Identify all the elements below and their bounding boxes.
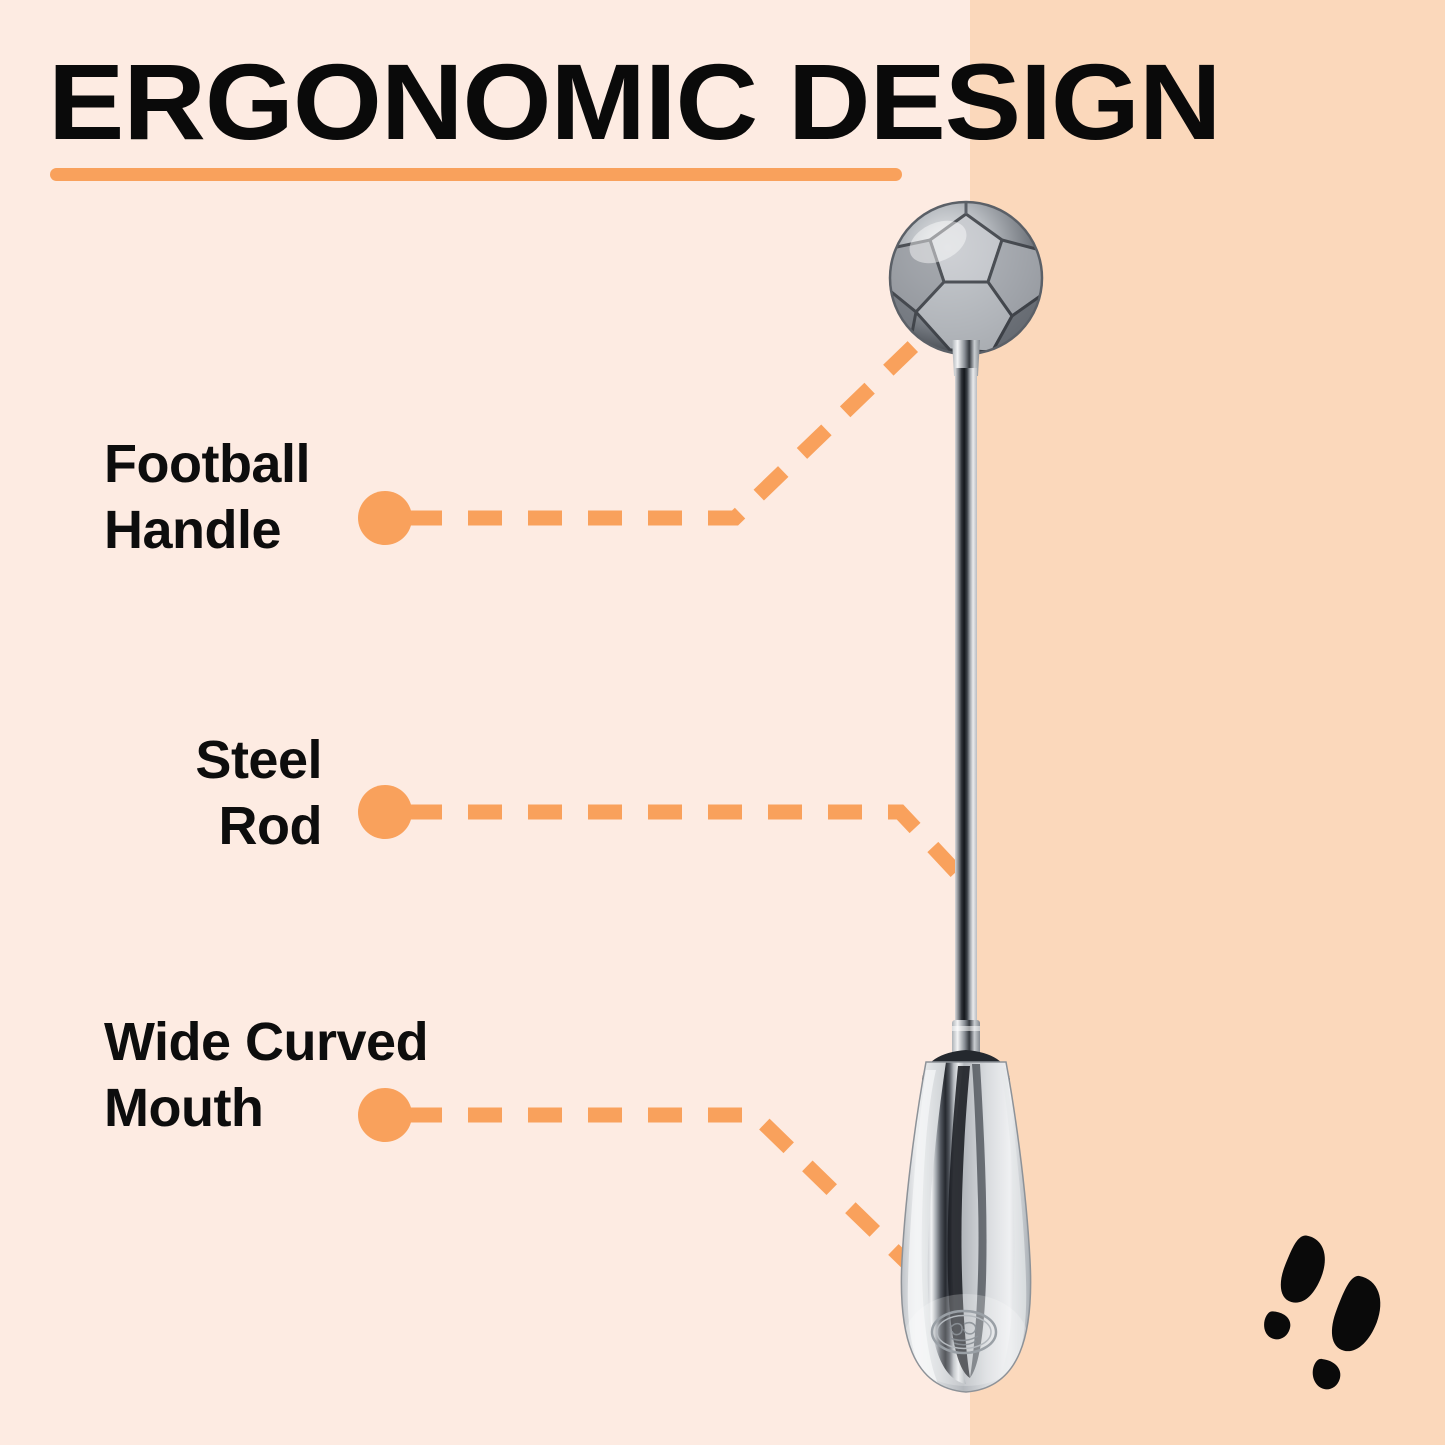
page-title: ERGONOMIC DESIGN (48, 48, 981, 156)
steel-rod-shaft (955, 368, 977, 1038)
ergonomic-design-infographic: ERGONOMIC DESIGN Football Handle Steel R… (0, 0, 1445, 1445)
collar-highlight (952, 1026, 980, 1031)
callout-label-wide-curved-mouth: Wide Curved Mouth (104, 1010, 524, 1142)
title-underline-rule (50, 168, 902, 181)
callout-label-steel-rod: Steel Rod (110, 728, 322, 860)
shoe-footprints-icon (1258, 1232, 1408, 1397)
background-left-panel (0, 0, 970, 1445)
product-image-shoehorn (860, 200, 1090, 1430)
callout-label-football-handle: Football Handle (104, 432, 364, 564)
curved-mouth-scoop (901, 1062, 1030, 1392)
